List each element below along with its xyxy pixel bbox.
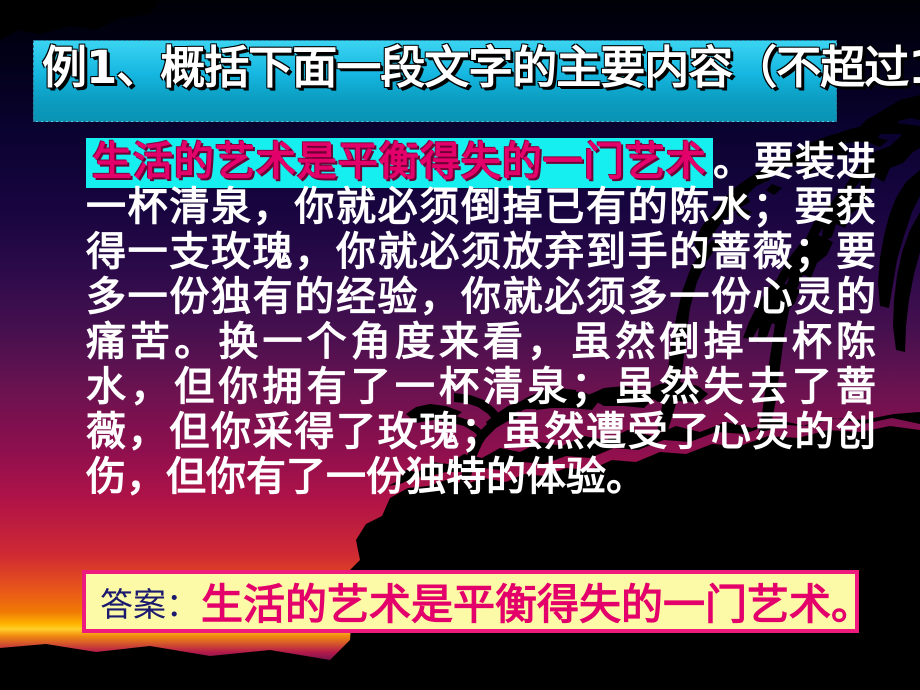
answer-box: 答案： 生活的艺术是平衡得失的一门艺术。 xyxy=(82,570,859,633)
page-title: 例1、概括下面一段文字的主要内容（不超过15字） xyxy=(42,37,872,99)
answer-value: 生活的艺术是平衡得失的一门艺术。 xyxy=(201,571,873,632)
answer-label: 答案： xyxy=(100,578,199,626)
title-banner: 例1、概括下面一段文字的主要内容（不超过15字） xyxy=(33,40,837,122)
highlighted-thesis: 生活的艺术是平衡得失的一门艺术 xyxy=(86,138,713,188)
body-rest: 。要装进一杯清泉，你就必须倒掉已有的陈水；要获得一支玫瑰，你就必须放弃到手的蔷薇… xyxy=(86,139,876,500)
body-paragraph: 生活的艺术是平衡得失的一门艺术。要装进一杯清泉，你就必须倒掉已有的陈水；要获得一… xyxy=(86,140,876,500)
slide-canvas: 例1、概括下面一段文字的主要内容（不超过15字） 生活的艺术是平衡得失的一门艺术… xyxy=(0,0,920,690)
